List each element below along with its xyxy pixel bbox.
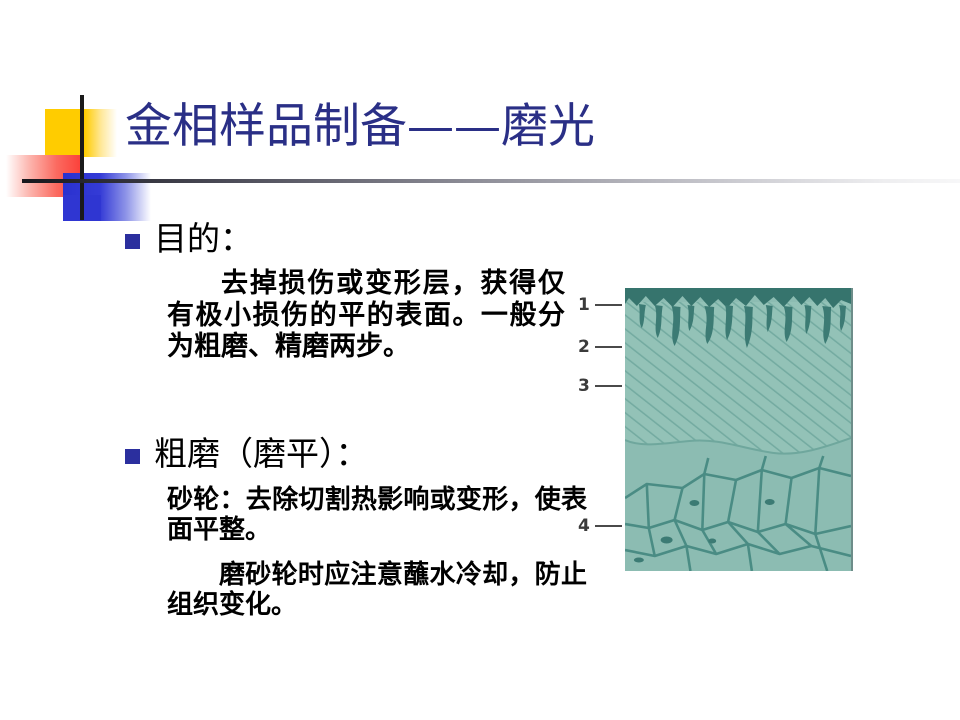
slide-root: 金相样品制备——磨光 目的： 去掉损伤或变形层，获得仅有极小损伤的平的表面。一般…	[0, 0, 960, 720]
bullet-square-icon	[125, 234, 140, 249]
paragraph-purpose-body: 去掉损伤或变形层，获得仅有极小损伤的平的表面。一般分为粗磨、精磨两步。	[167, 268, 565, 363]
figure-label-3: 3	[578, 376, 622, 396]
bullet-heading-rough-grinding: 粗磨（磨平）：	[154, 433, 369, 474]
figure-leader-line-icon	[595, 346, 622, 348]
figure-leader-line-icon	[595, 525, 622, 527]
decoration-vertical-rule	[80, 95, 84, 220]
figure-leader-line-icon	[595, 385, 622, 387]
figure-leader-line-icon	[595, 304, 622, 306]
figure-image	[625, 288, 853, 571]
slide-title: 金相样品制备——磨光	[125, 102, 595, 151]
title-underline-rule	[22, 179, 960, 183]
paragraph-grinding-wheel: 砂轮：去除切割热影响或变形，使表面平整。	[167, 485, 587, 546]
bullet-item-rough-grinding: 粗磨（磨平）：	[125, 433, 369, 474]
figure-label-column: 1 2 3 4	[578, 288, 626, 576]
figure-label-3-text: 3	[578, 376, 590, 396]
figure-label-2-text: 2	[578, 337, 590, 357]
figure-label-1: 1	[578, 295, 622, 315]
figure-label-2: 2	[578, 337, 622, 357]
bullet-item-purpose: 目的：	[125, 218, 253, 259]
bullet-square-icon	[125, 449, 140, 464]
bullet-heading-purpose: 目的：	[154, 218, 253, 259]
figure-label-4-text: 4	[578, 516, 590, 536]
figure-metallographic-cross-section: 1 2 3 4	[578, 288, 858, 576]
figure-label-4: 4	[578, 516, 622, 536]
paragraph-water-cooling: 磨砂轮时应注意蘸水冷却，防止组织变化。	[167, 560, 587, 621]
cross-section-illustration	[625, 288, 851, 571]
figure-label-1-text: 1	[578, 295, 590, 315]
